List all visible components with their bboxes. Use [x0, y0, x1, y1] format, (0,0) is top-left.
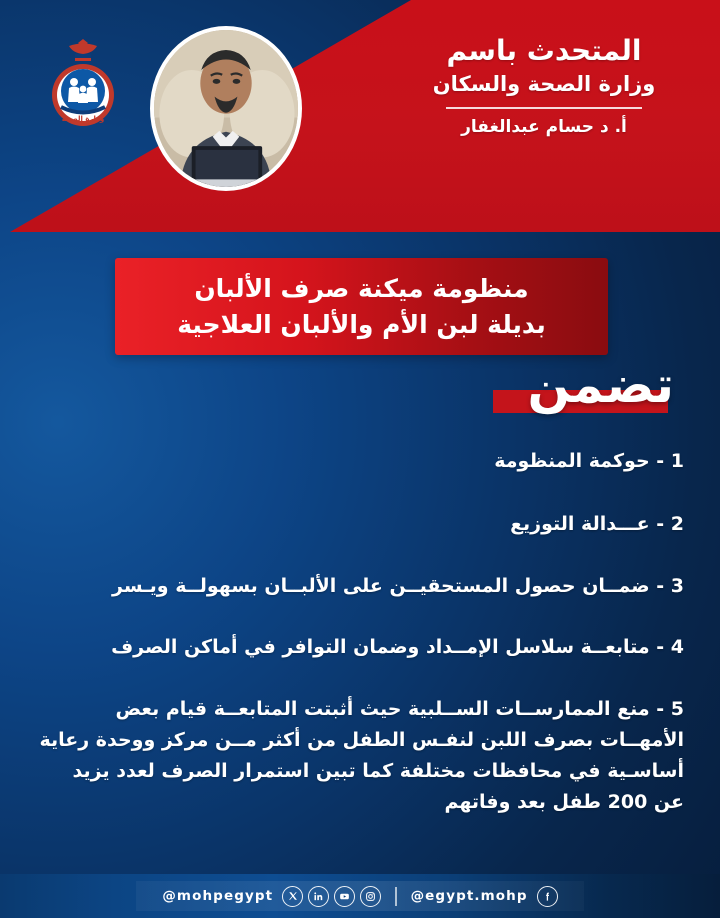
list-item: 5 - منع الممارســات الســلبية حيث أثبتت …: [36, 694, 684, 818]
linkedin-icon[interactable]: [308, 886, 329, 907]
ministry-of-health-and-population-logo: وزارة الصحة: [42, 33, 124, 133]
infographic-poster: وزارة الصحة: [0, 0, 720, 918]
speaker-portrait: [150, 26, 302, 191]
shared-social-handle[interactable]: @mohpegypt: [162, 888, 273, 904]
list-item: 1 - حوكمة المنظومة: [36, 448, 684, 476]
title-banner: منظومة ميكنة صرف الألبان بديلة لبن الأم …: [115, 258, 608, 355]
section-heading-group: تضمن: [396, 358, 696, 420]
facebook-handle[interactable]: @egypt.mohp: [411, 888, 528, 904]
footer-separator: [395, 887, 396, 906]
footer-social-bar: @egypt.mohp: [0, 874, 720, 918]
header: وزارة الصحة: [0, 0, 720, 236]
list-item: 3 - ضمــان حصول المستحقيــن على الألبــا…: [36, 573, 684, 601]
list-item: 2 - عـــدالة التوزيع: [36, 511, 684, 539]
speaker-title-block: المتحدث باسم وزارة الصحة والسكان أ. د حس…: [394, 34, 694, 139]
title-line-2: بديلة لبن الأم والألبان العلاجية: [177, 307, 545, 343]
speaker-divider: [446, 107, 642, 109]
points-list: 1 - حوكمة المنظومة 2 - عـــدالة التوزيع …: [36, 448, 684, 818]
ministry-name: وزارة الصحة والسكان: [394, 71, 694, 98]
instagram-icon[interactable]: [360, 886, 381, 907]
social-icon-group: [282, 886, 381, 907]
title-line-1: منظومة ميكنة صرف الألبان: [194, 271, 528, 307]
speaker-role: المتحدث باسم: [394, 34, 694, 68]
list-item: 4 - متابعــة سلاسل الإمــداد وضمان التوا…: [36, 634, 684, 662]
youtube-icon[interactable]: [334, 886, 355, 907]
svg-text:وزارة الصحة: وزارة الصحة: [62, 115, 105, 123]
footer-panel: @egypt.mohp: [136, 881, 583, 911]
x-icon[interactable]: [282, 886, 303, 907]
facebook-icon[interactable]: [537, 886, 558, 907]
speaker-name: أ. د حسام عبدالغفار: [394, 116, 694, 138]
section-heading: تضمن: [527, 358, 674, 412]
